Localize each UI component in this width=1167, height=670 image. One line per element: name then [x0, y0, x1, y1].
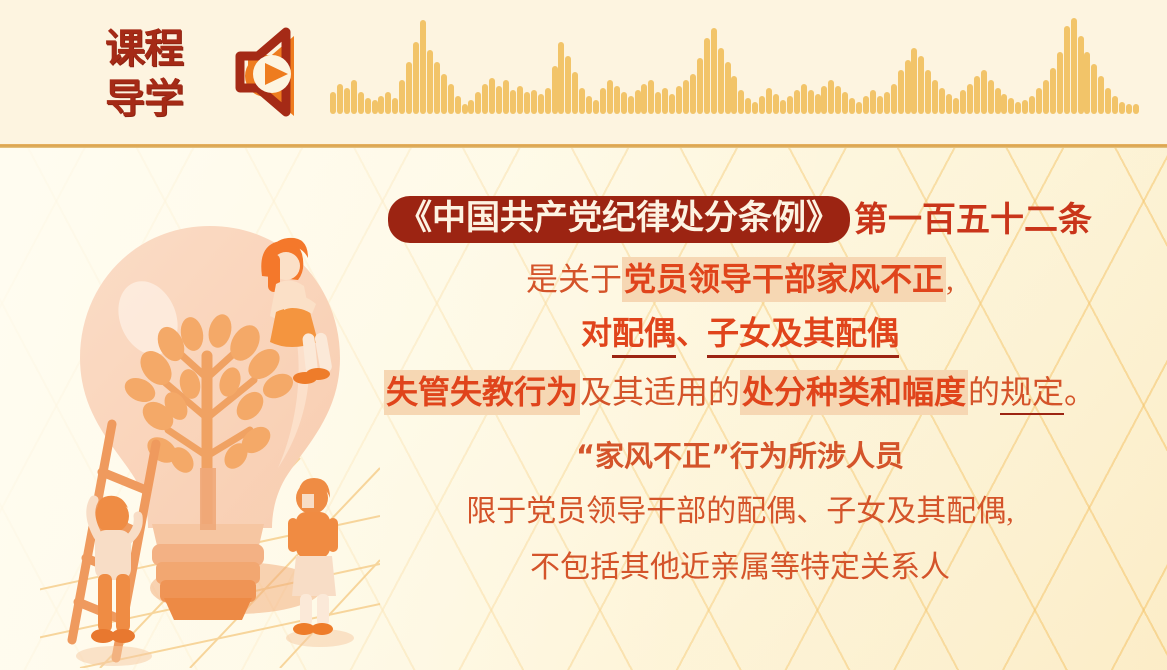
text-line-5: “家风不正”行为所涉人员: [330, 442, 1150, 471]
waveform-bar: [877, 96, 883, 114]
line4-de: 的: [968, 374, 1000, 410]
text-line-2: 是关于党员领导干部家风不正,: [330, 263, 1150, 295]
line4-underline: 规定: [1000, 374, 1064, 415]
waveform-bar: [669, 94, 675, 114]
megaphone-speaker-icon: [222, 24, 318, 124]
waveform-bar: [953, 98, 959, 114]
waveform-bar: [1001, 94, 1007, 114]
waveform-bar: [545, 88, 551, 114]
waveform-bar: [1084, 52, 1090, 114]
waveform-bar: [372, 100, 378, 114]
waveform-bar: [911, 48, 917, 114]
waveform-bar: [392, 98, 398, 114]
waveform-bar: [849, 98, 855, 114]
waveform-bar: [752, 102, 758, 114]
waveform-bar: [475, 92, 481, 114]
waveform-bar: [330, 92, 336, 114]
waveform-bar: [572, 72, 578, 114]
waveform-bar: [870, 90, 876, 114]
waveform-bar: [863, 96, 869, 114]
waveform-bar: [828, 80, 834, 114]
waveform-bar: [641, 84, 647, 114]
line3-underline-b: 子女及其配偶: [707, 314, 899, 358]
waveform-bar: [1036, 88, 1042, 114]
waveform-bar: [448, 84, 454, 114]
waveform-bar: [1119, 102, 1125, 114]
waveform-bar: [662, 88, 668, 114]
waveform-bar: [385, 92, 391, 114]
article-number: 第一百五十二条: [854, 203, 1092, 237]
waveform-bar: [1057, 52, 1063, 114]
waveform-bar: [787, 96, 793, 114]
waveform-bar: [648, 80, 654, 114]
waveform-bar: [1029, 96, 1035, 114]
line3-prefix: 对: [581, 316, 612, 352]
waveform-bar: [510, 90, 516, 114]
waveform-bar: [745, 98, 751, 114]
waveform-bar: [635, 90, 641, 114]
waveform-bar: [406, 62, 412, 114]
audio-waveform: [330, 14, 1140, 114]
waveform-bar: [365, 98, 371, 114]
waveform-bar: [918, 56, 924, 114]
line2-highlight: 党员领导干部家风不正: [622, 257, 946, 302]
waveform-bar: [607, 80, 613, 114]
waveform-bar: [420, 20, 426, 114]
waveform-bar: [593, 100, 599, 114]
waveform-bar: [905, 60, 911, 114]
waveform-bar: [974, 76, 980, 114]
text-line-3: 对配偶、子女及其配偶: [330, 317, 1150, 350]
waveform-bar: [427, 50, 433, 114]
waveform-bar: [766, 88, 772, 114]
waveform-bar: [731, 76, 737, 114]
waveform-bar: [697, 58, 703, 114]
waveform-bar: [1022, 100, 1028, 114]
waveform-bar: [711, 28, 717, 114]
header-band: 课程 导学: [0, 0, 1167, 147]
waveform-bar: [884, 92, 890, 114]
waveform-bar: [704, 38, 710, 114]
waveform-bar: [496, 86, 502, 114]
waveform-bar: [759, 96, 765, 114]
waveform-bar: [517, 86, 523, 114]
waveform-bar: [1078, 36, 1084, 114]
text-line-4: 失管失教行为及其适用的处分种类和幅度的规定。: [330, 376, 1150, 408]
waveform-bar: [441, 74, 447, 114]
line4-mid: 及其适用的: [580, 374, 740, 410]
waveform-bar: [1126, 104, 1132, 114]
line2-prefix: 是关于: [526, 261, 622, 297]
waveform-bar: [586, 96, 592, 114]
waveform-bar: [801, 84, 807, 114]
waveform-bar: [468, 100, 474, 114]
waveform-bar: [337, 84, 343, 114]
waveform-bar: [1064, 26, 1070, 114]
waveform-bar: [856, 102, 862, 114]
waveform-bar: [821, 86, 827, 114]
waveform-bar: [628, 96, 634, 114]
waveform-bar: [835, 86, 841, 114]
waveform-bar: [1050, 68, 1056, 114]
waveform-bar: [891, 84, 897, 114]
waveform-bar: [676, 86, 682, 114]
waveform-bar: [995, 88, 1001, 114]
line3-underline-a: 配偶: [612, 314, 676, 358]
waveform-bar: [558, 42, 564, 114]
waveform-bar: [988, 80, 994, 114]
waveform-bar: [690, 74, 696, 114]
text-line-6: 限于党员领导干部的配偶、子女及其配偶,: [330, 497, 1150, 527]
waveform-bar: [413, 42, 419, 114]
waveform-bar: [1043, 80, 1049, 114]
waveform-bar: [462, 104, 468, 114]
waveform-bar: [725, 62, 731, 114]
waveform-bar: [455, 96, 461, 114]
waveform-bar: [524, 92, 530, 114]
waveform-bar: [842, 92, 848, 114]
waveform-bar: [489, 78, 495, 114]
waveform-bar: [434, 62, 440, 114]
waveform-bar: [531, 90, 537, 114]
regulation-title-badge: 《中国共产党纪律处分条例》: [388, 196, 850, 243]
waveform-bar: [1008, 98, 1014, 114]
waveform-bar: [600, 88, 606, 114]
main-text-block: 《中国共产党纪律处分条例》第一百五十二条 是关于党员领导干部家风不正, 对配偶、…: [330, 196, 1150, 583]
waveform-bar: [794, 90, 800, 114]
line3-separator: 、: [676, 316, 707, 352]
waveform-bar: [1112, 96, 1118, 114]
waveform-bar: [399, 80, 405, 114]
waveform-bar: [358, 92, 364, 114]
waveform-bar: [552, 66, 558, 114]
waveform-bar: [815, 94, 821, 114]
waveform-bar: [1015, 102, 1021, 114]
waveform-bar: [981, 70, 987, 114]
waveform-bar: [808, 90, 814, 114]
logo-line-1: 课程: [105, 24, 183, 74]
waveform-bar: [621, 92, 627, 114]
waveform-bar: [655, 92, 661, 114]
waveform-bar: [925, 70, 931, 114]
waveform-bar: [718, 48, 724, 114]
waveform-bar: [773, 94, 779, 114]
course-guide-logo: 课程 导学: [88, 22, 200, 126]
text-line-1: 《中国共产党纪律处分条例》第一百五十二条: [330, 196, 1150, 243]
waveform-bar: [780, 100, 786, 114]
waveform-bar: [683, 80, 689, 114]
waveform-bar: [939, 88, 945, 114]
waveform-bar: [503, 80, 509, 114]
waveform-bar: [344, 88, 350, 114]
waveform-bar: [378, 96, 384, 114]
waveform-bar: [738, 90, 744, 114]
logo-line-2: 导学: [105, 74, 183, 124]
waveform-bar: [960, 90, 966, 114]
line4-highlight-a: 失管失教行为: [384, 370, 580, 415]
waveform-bar: [482, 84, 488, 114]
line2-suffix: ,: [946, 261, 954, 297]
waveform-bar: [946, 94, 952, 114]
waveform-bar: [579, 88, 585, 114]
waveform-bar: [932, 80, 938, 114]
waveform-bar: [538, 94, 544, 114]
line4-period: 。: [1064, 374, 1096, 410]
line4-highlight-b: 处分种类和幅度: [740, 370, 968, 415]
waveform-bar: [1105, 88, 1111, 114]
waveform-bar: [1098, 76, 1104, 114]
lightbulb-tree-illustration: [40, 168, 380, 668]
waveform-bar: [565, 56, 571, 114]
waveform-bar: [898, 70, 904, 114]
waveform-bar: [1071, 18, 1077, 114]
waveform-bar: [1133, 104, 1139, 114]
main-body: 《中国共产党纪律处分条例》第一百五十二条 是关于党员领导干部家风不正, 对配偶、…: [0, 148, 1167, 670]
waveform-bar: [967, 84, 973, 114]
poster-root: 课程 导学: [0, 0, 1167, 670]
waveform-bar: [614, 86, 620, 114]
waveform-bar: [1091, 64, 1097, 114]
waveform-bar: [351, 80, 357, 114]
text-line-7: 不包括其他近亲属等特定关系人: [330, 553, 1150, 583]
